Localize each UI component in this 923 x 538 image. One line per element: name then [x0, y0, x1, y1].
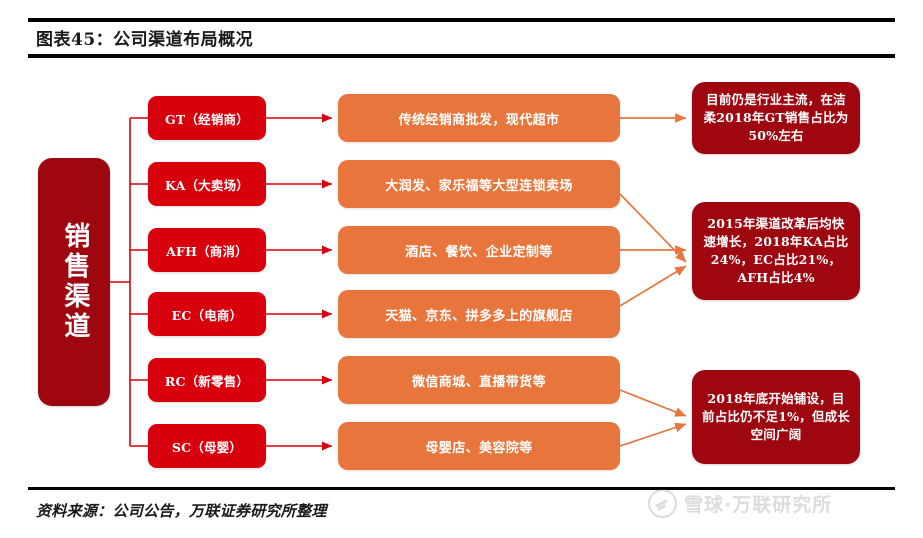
channel-node-gt-label: GT（经销商） [165, 109, 249, 128]
annotation-note-ka-ec-afh-text: 2015年渠道改革后均快速增长，2018年KA占比24%，EC占比21%，AFH… [702, 215, 850, 288]
channel-node-rc[interactable]: RC（新零售） [148, 358, 266, 402]
description-node-afh-label: 酒店、餐饮、企业定制等 [405, 241, 552, 260]
description-node-gt[interactable]: 传统经销商批发，现代超市 [338, 94, 620, 142]
description-node-ka-label: 大润发、家乐福等大型连锁卖场 [385, 175, 573, 194]
description-node-ec[interactable]: 天猫、京东、拼多多上的旗舰店 [338, 290, 620, 338]
description-node-ka[interactable]: 大润发、家乐福等大型连锁卖场 [338, 160, 620, 208]
annotation-note-ka-ec-afh[interactable]: 2015年渠道改革后均快速增长，2018年KA占比24%，EC占比21%，AFH… [692, 202, 860, 300]
annotation-note-rc-sc[interactable]: 2018年底开始铺设，目前占比仍不足1%，但成长空间广阔 [692, 370, 860, 464]
channel-node-sc[interactable]: SC（母婴） [148, 424, 266, 468]
watermark: 雪球·万联研究所 [648, 486, 898, 520]
description-node-gt-label: 传统经销商批发，现代超市 [399, 109, 560, 128]
description-node-sc-label: 母婴店、美容院等 [425, 437, 532, 456]
channel-node-rc-label: RC（新零售） [165, 371, 249, 390]
channel-node-ka-label: KA（大卖场） [165, 175, 249, 194]
channel-node-afh[interactable]: AFH（商消） [148, 228, 266, 272]
channel-node-ka[interactable]: KA（大卖场） [148, 162, 266, 206]
channel-node-sc-label: SC（母婴） [172, 437, 242, 456]
header-rule-bottom [28, 54, 895, 58]
channel-node-gt[interactable]: GT（经销商） [148, 96, 266, 140]
page-title: 图表45：公司渠道布局概况 [36, 22, 736, 52]
channel-node-afh-label: AFH（商消） [166, 241, 248, 260]
annotation-note-gt-text: 目前仍是行业主流，在洁柔2018年GT销售占比为50%左右 [702, 91, 850, 145]
xueqiu-logo-icon [648, 489, 677, 518]
root-node-sales-channel: 销售渠道 [38, 158, 110, 406]
footer-rule [28, 487, 895, 490]
watermark-text: 雪球·万联研究所 [684, 490, 832, 517]
diagram-canvas: 销售渠道 GT（经销商） KA（大卖场） AFH（商消） EC（电商） RC（新… [0, 60, 923, 485]
annotation-note-rc-sc-text: 2018年底开始铺设，目前占比仍不足1%，但成长空间广阔 [702, 390, 850, 444]
chart-figure-page: 图表45：公司渠道布局概况 [0, 0, 923, 538]
source-note: 资料来源：公司公告，万联证券研究所整理 [36, 496, 596, 524]
channel-node-ec[interactable]: EC（电商） [148, 292, 266, 336]
description-node-rc-label: 微信商城、直播带货等 [412, 371, 546, 390]
description-node-rc[interactable]: 微信商城、直播带货等 [338, 356, 620, 404]
description-node-ec-label: 天猫、京东、拼多多上的旗舰店 [385, 305, 573, 324]
annotation-note-gt[interactable]: 目前仍是行业主流，在洁柔2018年GT销售占比为50%左右 [692, 82, 860, 154]
description-node-afh[interactable]: 酒店、餐饮、企业定制等 [338, 226, 620, 274]
root-node-label: 销售渠道 [58, 222, 90, 342]
description-node-sc[interactable]: 母婴店、美容院等 [338, 422, 620, 470]
channel-node-ec-label: EC（电商） [172, 305, 243, 324]
